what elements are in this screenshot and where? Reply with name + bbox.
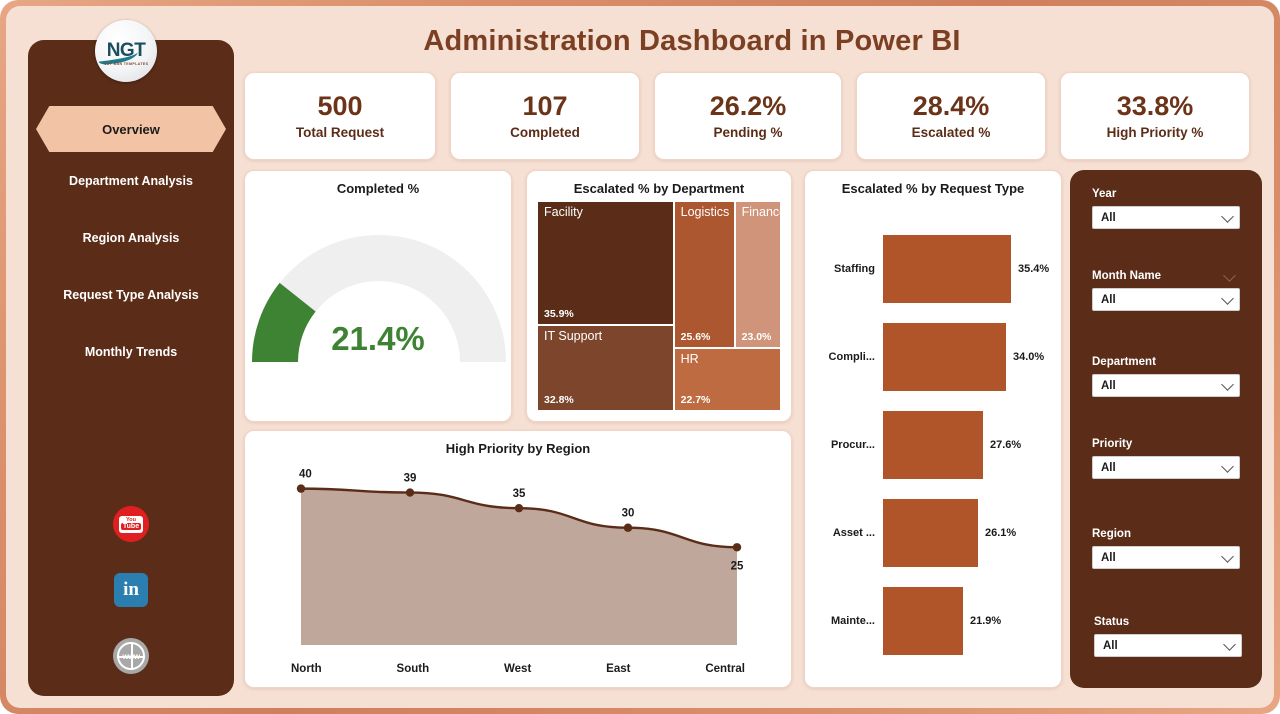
- bar-chart-escalated-by-request-type: Escalated % by Request Type Staffing 35.…: [804, 170, 1062, 688]
- bar-fill: [883, 411, 983, 479]
- bar-value: 21.9%: [963, 615, 1001, 627]
- treemap-tile[interactable]: Facility 35.9%: [537, 201, 674, 325]
- sidebar-item-label: Department Analysis: [69, 174, 193, 188]
- treemap-tile[interactable]: HR 22.7%: [674, 348, 781, 411]
- chart-title: Escalated % by Request Type: [805, 171, 1061, 196]
- chart-title: High Priority by Region: [245, 431, 791, 456]
- bar-wrap: 34.0%: [883, 323, 1061, 391]
- social-links: You Tube in www: [28, 506, 234, 704]
- bar-row[interactable]: Mainte... 21.9%: [805, 587, 1061, 655]
- bar-fill: [883, 587, 963, 655]
- treemap-tile-value: 32.8%: [544, 394, 574, 406]
- filter-group-year: Year All: [1092, 188, 1240, 229]
- logo-mark: NGT: [107, 41, 146, 60]
- area-data-label: 30: [622, 508, 635, 520]
- gauge-arc-wrap: 21.4%: [245, 202, 511, 402]
- dashboard-canvas: Administration Dashboard in Power BI NGT…: [6, 6, 1274, 708]
- globe-glyph: www: [117, 642, 145, 670]
- treemap-tile[interactable]: Finance 23.0%: [735, 201, 781, 348]
- kpi-value: 33.8%: [1117, 92, 1194, 120]
- sidebar-item-label: Region Analysis: [83, 231, 180, 245]
- treemap-tile-label: Logistics: [681, 205, 730, 219]
- kpi-value: 28.4%: [913, 92, 990, 120]
- gauge-chart-completed-percent: Completed % 21.4%: [244, 170, 512, 422]
- treemap-tile[interactable]: Logistics 25.6%: [674, 201, 735, 348]
- chart-title: Completed %: [245, 171, 511, 196]
- area-marker[interactable]: [624, 524, 632, 532]
- youtube-icon[interactable]: You Tube: [113, 506, 149, 542]
- sidebar-item-label: Overview: [102, 122, 160, 137]
- area-marker[interactable]: [406, 488, 414, 496]
- chevron-down-icon: [1221, 460, 1234, 473]
- filter-label: Year: [1092, 188, 1240, 200]
- kpi-label: Escalated %: [912, 125, 991, 140]
- kpi-label: Pending %: [713, 125, 782, 140]
- bar-wrap: 27.6%: [883, 411, 1061, 479]
- treemap-tile-label: HR: [681, 352, 699, 366]
- chevron-down-icon: [1223, 269, 1236, 282]
- filter-label-text: Month Name: [1092, 270, 1161, 282]
- area-data-label: 35: [513, 488, 526, 500]
- kpi-card-total-request[interactable]: 500 Total Request: [244, 72, 436, 160]
- sidebar-item-region-analysis[interactable]: Region Analysis: [28, 209, 234, 266]
- linkedin-icon[interactable]: in: [113, 572, 149, 608]
- bar-value: 35.4%: [1011, 263, 1049, 275]
- youtube-bottom: Tube: [121, 523, 141, 530]
- area-data-label: 40: [299, 469, 312, 481]
- treemap-tile-value: 25.6%: [681, 331, 711, 343]
- kpi-card-high-priority[interactable]: 33.8% High Priority %: [1060, 72, 1250, 160]
- filter-value: All: [1103, 640, 1118, 652]
- chevron-down-icon: [1221, 292, 1234, 305]
- area-marker[interactable]: [297, 484, 305, 492]
- filter-group-department: Department All: [1092, 356, 1240, 397]
- treemap-plot: Facility 35.9% IT Support 32.8% Logistic…: [537, 201, 781, 411]
- filter-label: Region: [1092, 528, 1240, 540]
- x-tick: South: [397, 663, 430, 675]
- filter-group-priority: Priority All: [1092, 438, 1240, 479]
- bar-fill: [883, 235, 1011, 303]
- treemap-tile-label: Facility: [544, 205, 583, 219]
- treemap-escalated-by-department: Escalated % by Department Facility 35.9%…: [526, 170, 792, 422]
- area-data-label: 25: [731, 560, 744, 572]
- treemap-tile[interactable]: IT Support 32.8%: [537, 325, 674, 411]
- bar-value: 34.0%: [1006, 351, 1044, 363]
- x-tick: Central: [705, 663, 745, 675]
- bar-wrap: 35.4%: [883, 235, 1061, 303]
- filter-value: All: [1101, 462, 1116, 474]
- sidebar: NGT NGT BBN TEMPLATES Overview Departmen…: [28, 40, 234, 696]
- filter-value: All: [1101, 294, 1116, 306]
- kpi-card-escalated[interactable]: 28.4% Escalated %: [856, 72, 1046, 160]
- page-title: Administration Dashboard in Power BI: [242, 18, 1142, 64]
- sidebar-nav: Overview Department Analysis Region Anal…: [28, 106, 234, 380]
- chevron-down-icon: [1221, 550, 1234, 563]
- area-chart-svg: 4039353025: [245, 457, 793, 657]
- bar-category: Staffing: [805, 263, 883, 275]
- area-data-label: 39: [404, 473, 417, 485]
- sidebar-item-label: Request Type Analysis: [63, 288, 198, 302]
- bar-chart-plot: Staffing 35.4% Compli... 34.0% Procur...: [805, 205, 1061, 679]
- kpi-value: 107: [522, 92, 567, 120]
- bar-row[interactable]: Procur... 27.6%: [805, 411, 1061, 479]
- chart-title: Escalated % by Department: [527, 171, 791, 196]
- treemap-tile-value: 23.0%: [742, 331, 772, 343]
- filter-dropdown-status[interactable]: All: [1094, 634, 1242, 657]
- bar-wrap: 21.9%: [883, 587, 1061, 655]
- filter-dropdown-month-name[interactable]: All: [1092, 288, 1240, 311]
- filter-dropdown-region[interactable]: All: [1092, 546, 1240, 569]
- bar-category: Mainte...: [805, 615, 883, 627]
- area-chart-high-priority-by-region: High Priority by Region 4039353025 North…: [244, 430, 792, 688]
- filter-dropdown-department[interactable]: All: [1092, 374, 1240, 397]
- bar-category: Asset ...: [805, 527, 883, 539]
- filter-dropdown-priority[interactable]: All: [1092, 456, 1240, 479]
- bar-wrap: 26.1%: [883, 499, 1061, 567]
- kpi-card-pending[interactable]: 26.2% Pending %: [654, 72, 842, 160]
- logo-tagline: NGT BBN TEMPLATES: [104, 62, 149, 66]
- website-icon[interactable]: www: [113, 638, 149, 674]
- youtube-glyph: You Tube: [119, 516, 143, 533]
- kpi-label: High Priority %: [1107, 125, 1204, 140]
- sidebar-item-request-type-analysis[interactable]: Request Type Analysis: [28, 266, 234, 323]
- treemap-tile-value: 22.7%: [681, 394, 711, 406]
- filter-value: All: [1101, 552, 1116, 564]
- bar-fill: [883, 323, 1006, 391]
- treemap-tile-label: Finance: [742, 205, 781, 219]
- treemap-tile-label: IT Support: [544, 329, 602, 343]
- x-tick: North: [291, 663, 322, 675]
- filter-label: Month Name: [1092, 270, 1240, 282]
- filter-group-region: Region All: [1092, 528, 1240, 569]
- filter-label: Department: [1092, 356, 1240, 368]
- x-axis-labels: North South West East Central: [245, 663, 791, 675]
- dashboard-frame: Administration Dashboard in Power BI NGT…: [0, 0, 1280, 714]
- gauge-value: 21.4%: [245, 320, 511, 358]
- bar-category: Procur...: [805, 439, 883, 451]
- treemap-tile-value: 35.9%: [544, 308, 574, 320]
- bar-fill: [883, 499, 978, 567]
- x-tick: West: [504, 663, 531, 675]
- brand-logo: NGT NGT BBN TEMPLATES: [95, 20, 157, 82]
- sidebar-item-department-analysis[interactable]: Department Analysis: [28, 152, 234, 209]
- filter-panel: Year All Month Name All Department: [1070, 170, 1262, 688]
- filter-value: All: [1101, 380, 1116, 392]
- kpi-label: Total Request: [296, 125, 384, 140]
- area-marker[interactable]: [733, 543, 741, 551]
- bar-row[interactable]: Staffing 35.4%: [805, 235, 1061, 303]
- bar-row[interactable]: Asset ... 26.1%: [805, 499, 1061, 567]
- gauge-svg: [245, 202, 513, 402]
- sidebar-item-monthly-trends[interactable]: Monthly Trends: [28, 323, 234, 380]
- area-marker[interactable]: [515, 504, 523, 512]
- bar-value: 26.1%: [978, 527, 1016, 539]
- kpi-value: 500: [317, 92, 362, 120]
- filter-value: All: [1101, 212, 1116, 224]
- x-tick: East: [606, 663, 630, 675]
- chevron-down-icon: [1221, 210, 1234, 223]
- sidebar-item-label: Monthly Trends: [85, 345, 177, 359]
- bar-value: 27.6%: [983, 439, 1021, 451]
- kpi-label: Completed: [510, 125, 580, 140]
- kpi-value: 26.2%: [710, 92, 787, 120]
- sidebar-item-overview[interactable]: Overview: [36, 106, 226, 152]
- filter-dropdown-year[interactable]: All: [1092, 206, 1240, 229]
- filter-group-status: Status All: [1094, 616, 1242, 657]
- filter-label: Status: [1094, 616, 1242, 628]
- linkedin-glyph: in: [114, 573, 148, 607]
- filter-label: Priority: [1092, 438, 1240, 450]
- bar-category: Compli...: [805, 351, 883, 363]
- chevron-down-icon: [1221, 378, 1234, 391]
- website-label: www: [122, 652, 139, 661]
- kpi-card-completed[interactable]: 107 Completed: [450, 72, 640, 160]
- chevron-down-icon: [1223, 638, 1236, 651]
- filter-group-month-name: Month Name All: [1092, 270, 1240, 311]
- bar-row[interactable]: Compli... 34.0%: [805, 323, 1061, 391]
